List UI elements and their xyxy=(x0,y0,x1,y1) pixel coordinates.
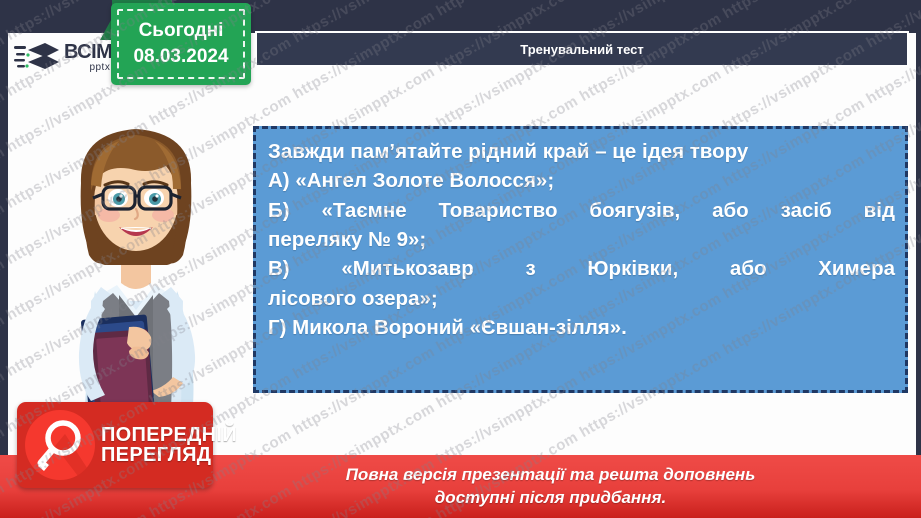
question-prompt: Завжди пам’ятайте рідний край – це ідея … xyxy=(268,137,895,166)
preview-badge-line2: ПЕРЕГЛЯД xyxy=(101,445,237,465)
brand-name: ВСІМ xyxy=(64,42,112,62)
today-label: Сьогодні xyxy=(139,18,224,44)
graduation-cap-icon xyxy=(14,40,60,74)
question-option-g[interactable]: Г) Микола Вороний «Євшан-зілля». xyxy=(268,313,895,342)
preview-badge[interactable]: ПОПЕРЕДНІЙ ПЕРЕГЛЯД xyxy=(17,402,213,488)
purchase-notice-text: Повна версія презентації та решта доповн… xyxy=(346,464,756,508)
question-option-a[interactable]: А) «Ангел Золоте Волосся»; xyxy=(268,166,895,195)
magnifier-icon xyxy=(25,410,95,480)
preview-badge-line1: ПОПЕРЕДНІЙ xyxy=(101,425,237,445)
brand-logo-text: ВСІМ pptx xyxy=(64,42,112,73)
today-date: 08.03.2024 xyxy=(133,44,228,70)
purchase-notice-line2: доступні після придбання. xyxy=(346,487,756,509)
page-title: Тренувальний тест xyxy=(520,42,643,57)
purchase-notice-line1: Повна версія презентації та решта доповн… xyxy=(346,464,756,486)
slide-root: ВСІМ pptx Сьогодні 08.03.2024 Тренувальн… xyxy=(0,0,921,518)
question-option-b-line1[interactable]: Б) «Таємне Товариство боягузів, або засі… xyxy=(268,196,895,225)
question-box: Завжди пам’ятайте рідний край – це ідея … xyxy=(253,126,908,393)
teacher-character-illustration xyxy=(33,105,238,417)
today-date-badge: Сьогодні 08.03.2024 xyxy=(111,3,251,85)
question-option-b-line2[interactable]: переляку № 9»; xyxy=(268,225,895,254)
question-option-c-line2[interactable]: лісового озера»; xyxy=(268,284,895,313)
brand-subtitle: pptx xyxy=(89,63,110,73)
brand-logo[interactable]: ВСІМ pptx xyxy=(8,30,120,84)
slide-title-bar: Тренувальний тест xyxy=(255,31,909,67)
question-option-c-line1[interactable]: В) «Митькозавр з Юрківки, або Химера xyxy=(268,254,895,283)
preview-badge-text: ПОПЕРЕДНІЙ ПЕРЕГЛЯД xyxy=(101,425,237,465)
